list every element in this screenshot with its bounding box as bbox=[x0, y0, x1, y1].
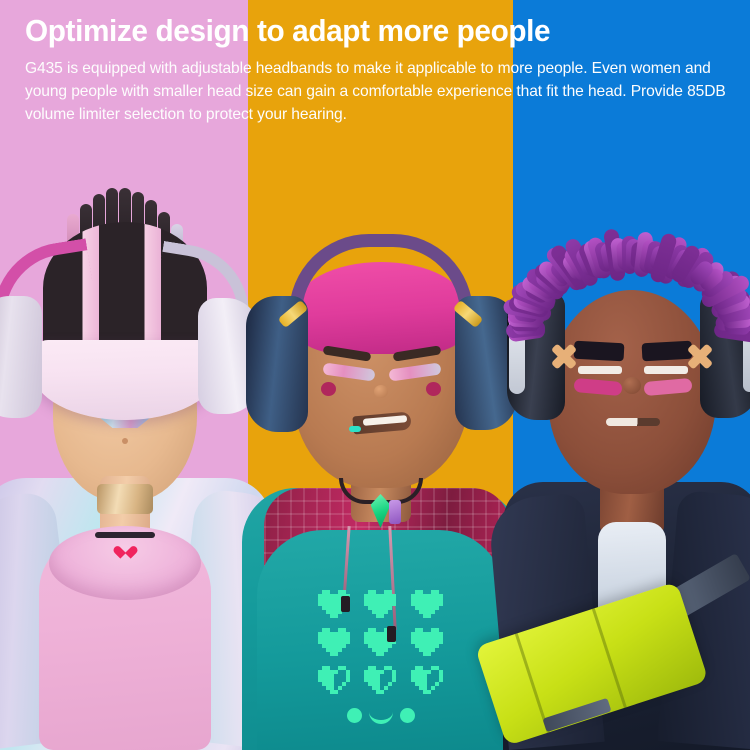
right-eye-left bbox=[573, 341, 624, 362]
right-hair-dreadlocks bbox=[526, 224, 738, 332]
pixel-heart-icon bbox=[318, 628, 350, 656]
page-title: Optimize design to adapt more people bbox=[25, 14, 712, 49]
center-blush-left bbox=[321, 382, 336, 396]
left-nose bbox=[122, 438, 128, 444]
x-bandage-icon-right bbox=[686, 342, 714, 370]
purple-pendant-icon bbox=[389, 500, 401, 524]
left-choker bbox=[95, 532, 155, 538]
pixel-hearts-grid bbox=[318, 590, 444, 694]
right-nose bbox=[623, 377, 641, 394]
left-earcup-left bbox=[0, 296, 42, 418]
right-eye-right bbox=[641, 341, 692, 362]
center-nose bbox=[374, 385, 388, 398]
center-headband bbox=[289, 234, 473, 314]
center-drawstring-tip-left bbox=[341, 596, 350, 612]
smiley-eye-right bbox=[400, 708, 415, 723]
center-drawstring-tip-right bbox=[387, 626, 396, 642]
character-center bbox=[248, 230, 513, 750]
smiley-eye-left bbox=[347, 708, 362, 723]
banner-description: G435 is equipped with adjustable headban… bbox=[25, 58, 741, 127]
x-bandage-icon-left bbox=[550, 342, 578, 370]
right-mouth bbox=[606, 418, 660, 426]
smiley-face-graphic bbox=[347, 708, 415, 728]
left-gold-ring bbox=[97, 484, 153, 514]
pixel-heart-half-icon bbox=[364, 666, 396, 694]
lip-piercing-icon bbox=[349, 426, 361, 432]
product-banner: Optimize design to adapt more people G43… bbox=[0, 0, 750, 750]
pixel-heart-half-icon bbox=[411, 666, 443, 694]
pixel-heart-icon bbox=[411, 590, 443, 618]
right-eyelid-right bbox=[644, 366, 688, 374]
banner-text-block: Optimize design to adapt more people G43… bbox=[25, 14, 741, 126]
character-right bbox=[513, 190, 750, 750]
heart-pendant-icon bbox=[118, 541, 132, 554]
character-left bbox=[0, 170, 266, 750]
pixel-heart-half-icon bbox=[318, 666, 350, 694]
pixel-heart-icon bbox=[411, 628, 443, 656]
pixel-heart-icon bbox=[364, 590, 396, 618]
center-blush-right bbox=[426, 382, 441, 396]
smiley-mouth bbox=[369, 712, 393, 724]
right-eyelid-left bbox=[578, 366, 622, 374]
